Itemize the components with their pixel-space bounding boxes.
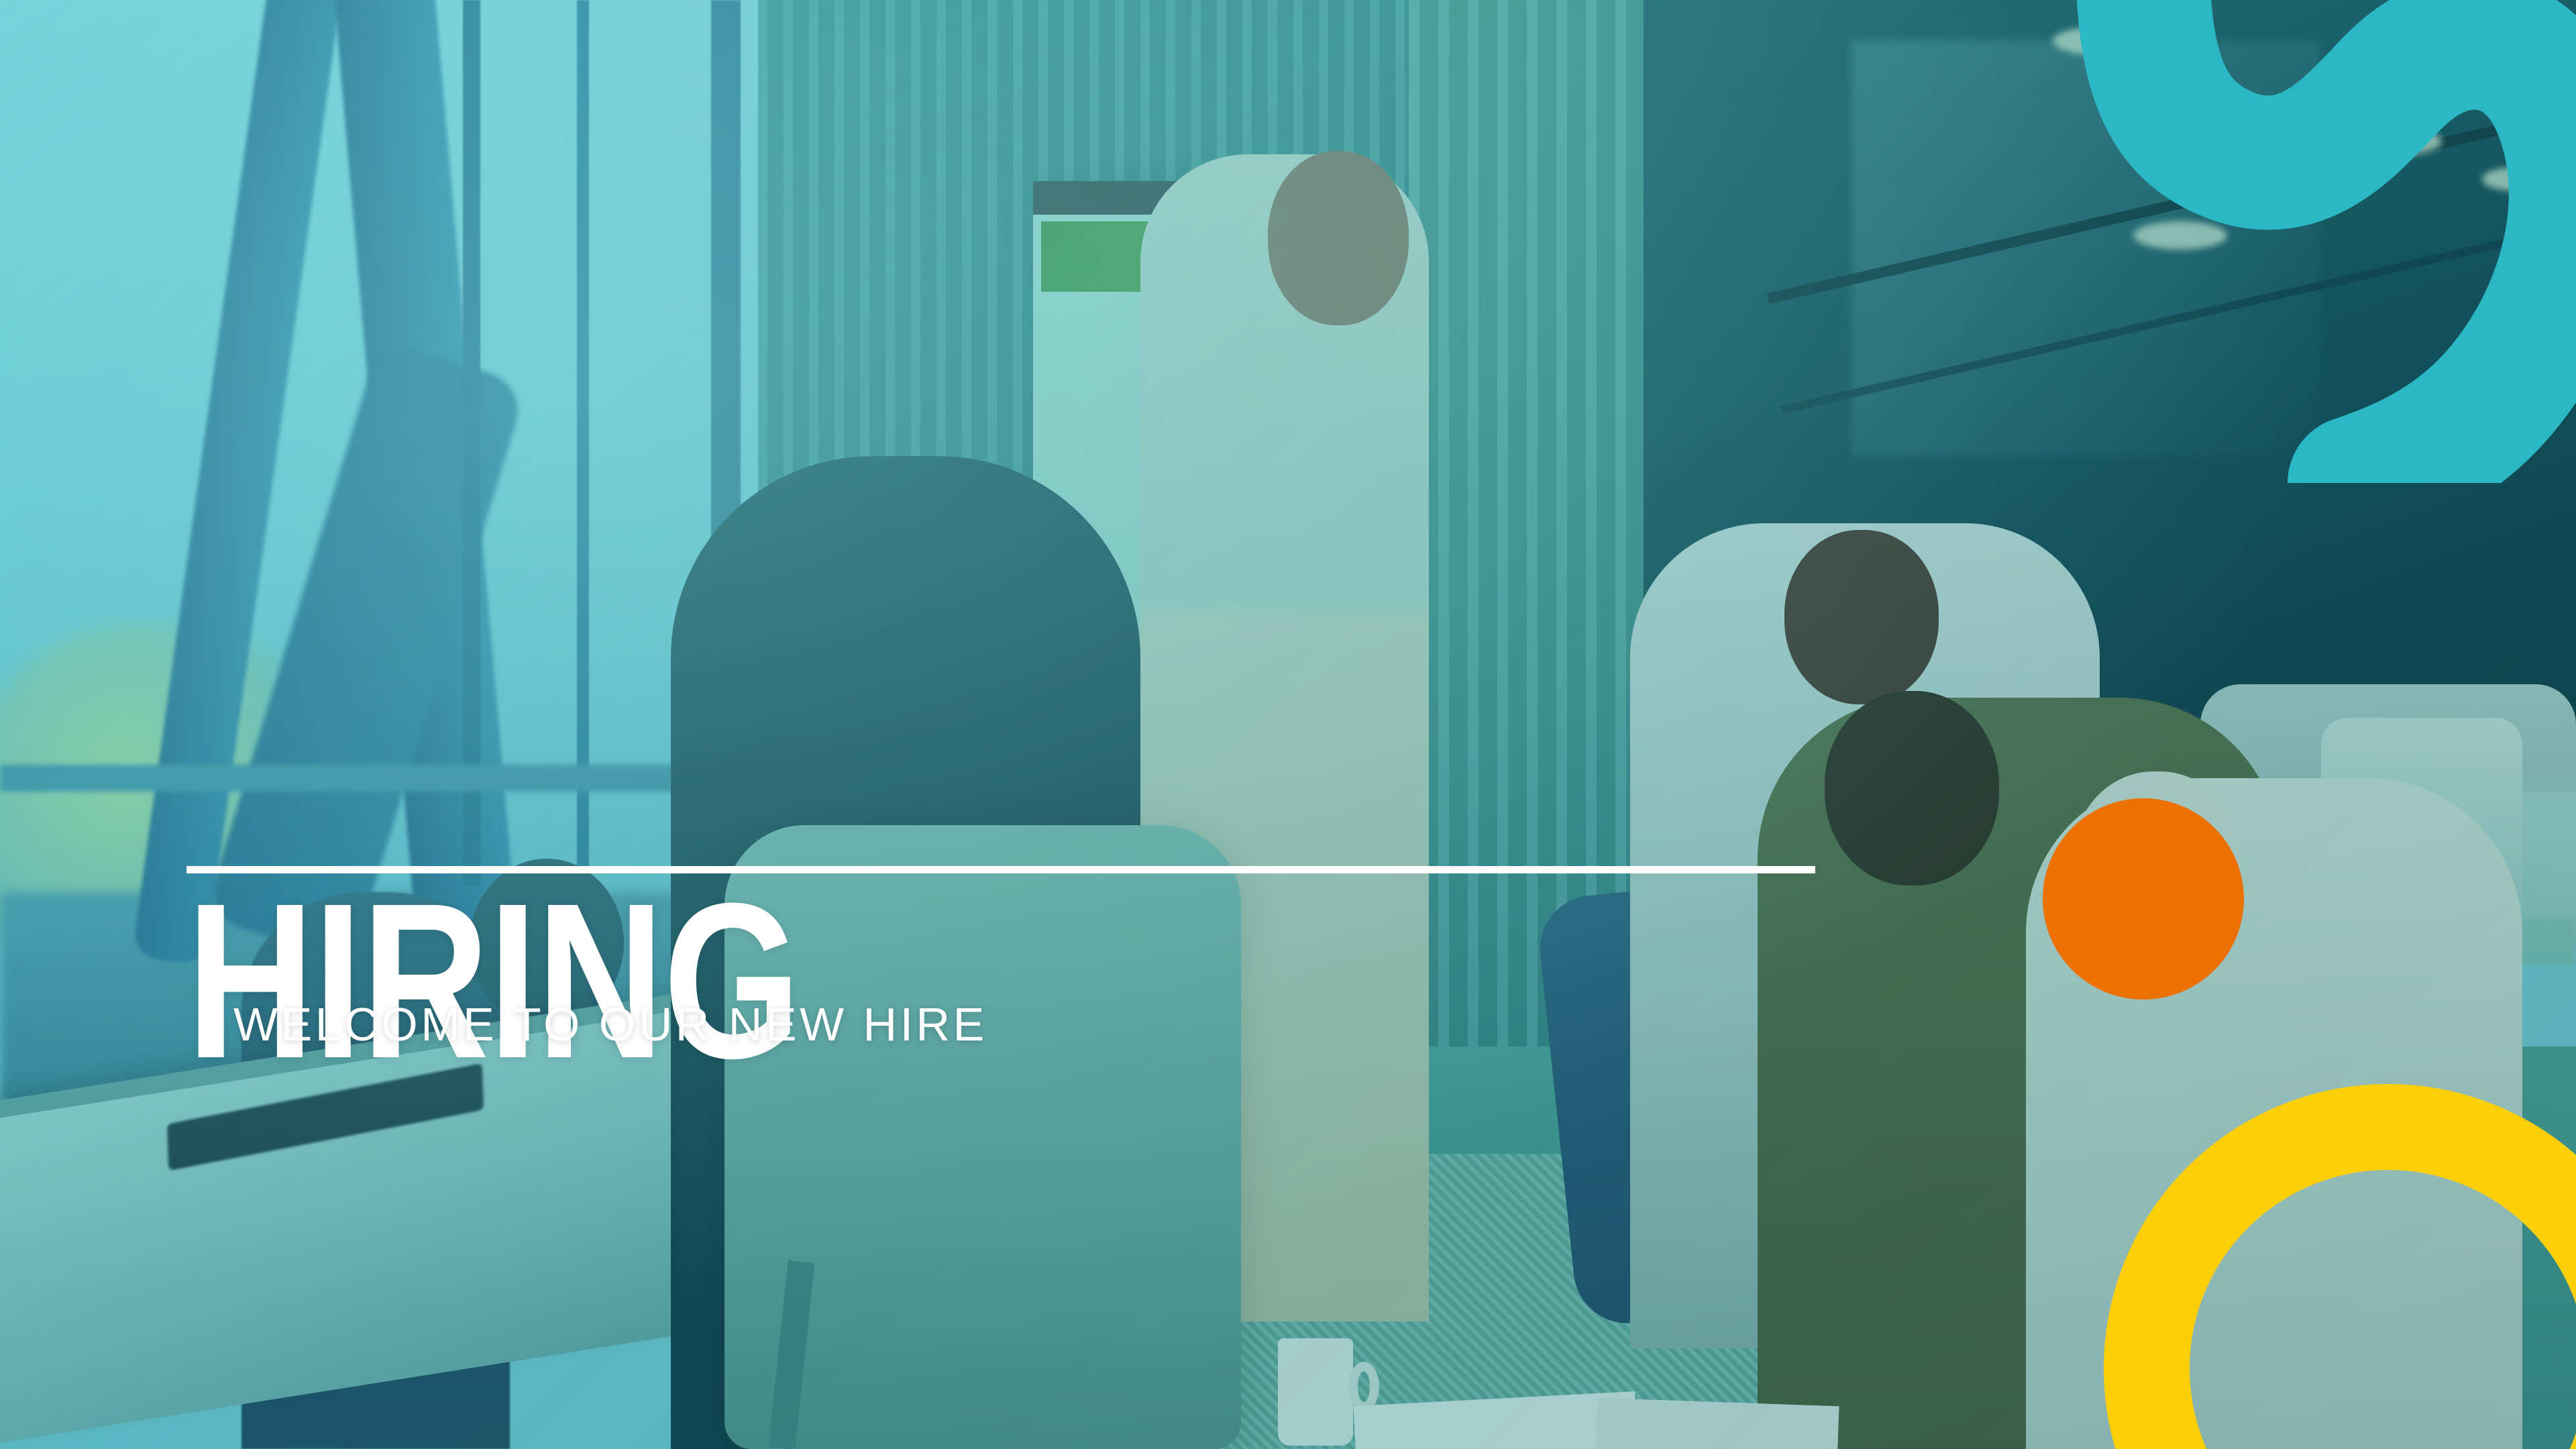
hiring-banner: HIRING GREAT TALENT WELCOME TO OUR NEW H… [0,0,2576,1449]
page-title: HIRING GREAT TALENT [186,464,1515,1449]
divider-rule [186,866,1815,873]
banner-subtitle: WELCOME TO OUR NEW HIRE [233,998,987,1051]
headline-line-1: HIRING [186,877,1515,1085]
banner-content: HIRING GREAT TALENT WELCOME TO OUR NEW H… [0,0,2576,1449]
